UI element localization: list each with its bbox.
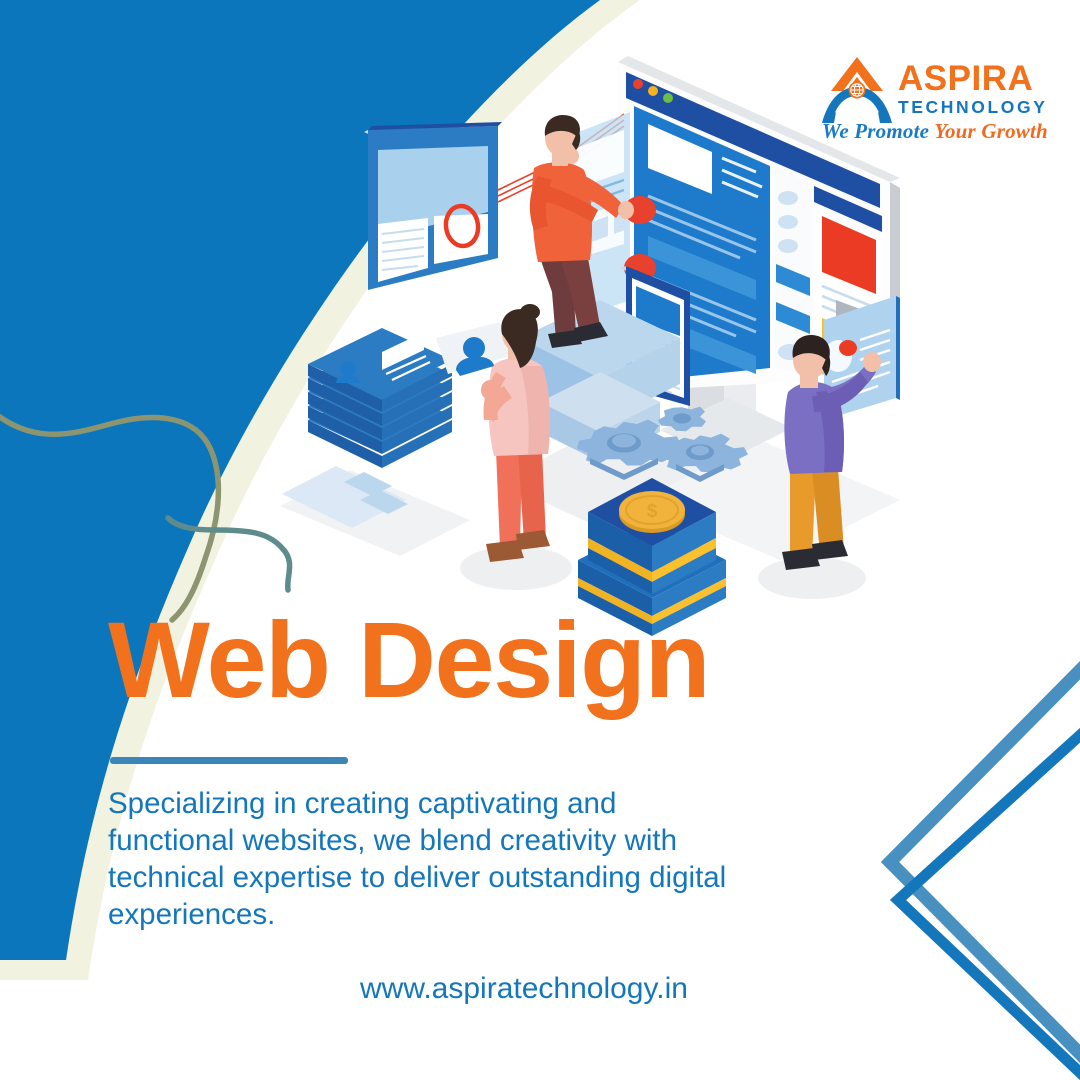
brand-logo[interactable]: ASPIRA TECHNOLOGY We Promote Your Growth [820,55,1040,155]
brand-tagline-part2: Your Growth [934,119,1048,143]
chevron-light [890,640,1080,1080]
website-url[interactable]: www.aspiratechnology.in [360,972,688,1006]
brand-name-secondary: TECHNOLOGY [898,99,1044,117]
brand-tagline: We Promote Your Growth [822,121,1042,142]
brand-tagline-part1: We Promote [822,119,934,143]
description-paragraph: Specializing in creating captivating and… [108,785,738,934]
poster-canvas: $ [0,0,1080,1080]
brand-name-primary: ASPIRA [898,61,1044,96]
page-title: Web Design [108,606,709,714]
brand-wordmark: ASPIRA TECHNOLOGY [898,61,1044,117]
title-divider-rule [110,757,348,764]
